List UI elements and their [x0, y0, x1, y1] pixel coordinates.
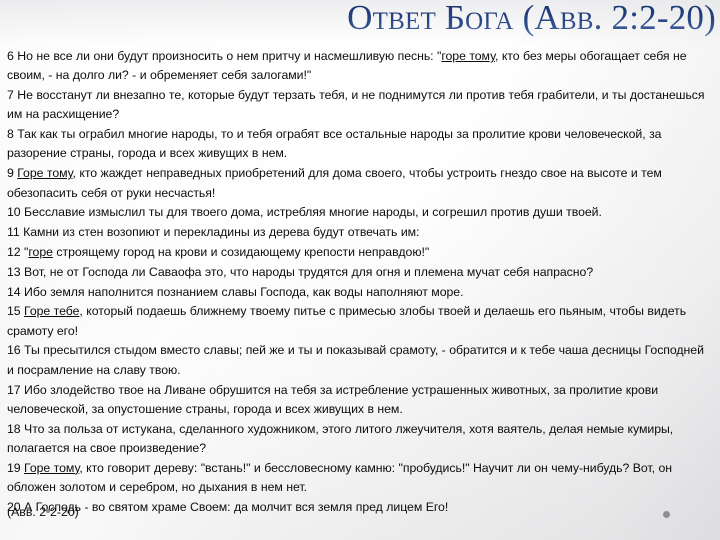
verse-text: 13 Вот, не от Господа ли Саваофа это, чт…	[7, 265, 593, 279]
verse-paragraph: 9 Горе тому, кто жаждет неправедных прио…	[7, 164, 713, 203]
verse-paragraph: 13 Вот, не от Господа ли Саваофа это, чт…	[7, 263, 713, 282]
verse-paragraph: 8 Так как ты ограбил многие народы, то и…	[7, 125, 713, 164]
verse-paragraph: 16 Ты пресытился стыдом вместо славы; пе…	[7, 341, 713, 380]
presentation-slide: Ответ Бога (Авв. 2:2-20) 6 Но не все ли …	[0, 0, 720, 540]
verse-paragraph: 10 Бесславие измыслил ты для твоего дома…	[7, 203, 713, 222]
verse-text: 12 "	[7, 245, 28, 259]
verse-text-continued: , кто жаждет неправедных приобретений дл…	[7, 166, 662, 199]
verse-text: 11 Камни из стен возопиют и перекладины …	[7, 225, 419, 239]
verse-text: 15	[7, 304, 24, 318]
woe-phrase: Горе тому	[24, 461, 79, 475]
verse-text-continued: , кто говорит дереву: "встань!" и бессло…	[7, 461, 672, 494]
woe-phrase: горе	[28, 245, 53, 259]
verse-paragraph: 11 Камни из стен возопиют и перекладины …	[7, 223, 713, 242]
verse-text: 6 Но не все ли они будут произносить о н…	[7, 49, 441, 63]
verse-text: 14 Ибо земля наполнится познанием славы …	[7, 285, 463, 299]
verse-paragraph: 7 Не восстанут ли внезапно те, которые б…	[7, 86, 713, 125]
verse-text: 7 Не восстанут ли внезапно те, которые б…	[7, 88, 705, 121]
verse-paragraph: 19 Горе тому, кто говорит дереву: "встан…	[7, 459, 713, 498]
reference-prefix: (Авв. 2	[7, 505, 46, 519]
verse-paragraph: 12 "горе строящему город на крови и сози…	[7, 243, 713, 262]
verse-text: 19	[7, 461, 24, 475]
verse-paragraph: 15 Горе тебе, который подаешь ближнему т…	[7, 302, 713, 341]
woe-phrase: Горе тому	[17, 166, 72, 180]
verse-text: 8 Так как ты ограбил многие народы, то и…	[7, 127, 661, 160]
verse-text: 18 Что за польза от истукана, сделанного…	[7, 422, 673, 455]
verse-paragraph: 18 Что за польза от истукана, сделанного…	[7, 420, 713, 459]
verse-paragraph: 14 Ибо земля наполнится познанием славы …	[7, 283, 713, 302]
decorative-bullet-icon	[663, 511, 670, 518]
page-title: Ответ Бога (Авв. 2:2-20)	[347, 0, 716, 38]
verse-text: 9	[7, 166, 17, 180]
verse-paragraph: 20 А Господь - во святом храме Своем: да…	[7, 498, 713, 517]
scripture-body: 6 Но не все ли они будут произносить о н…	[7, 47, 713, 518]
verse-paragraph: 6 Но не все ли они будут произносить о н…	[7, 47, 713, 86]
woe-phrase: Горе тебе	[24, 304, 79, 318]
woe-phrase: горе тому	[441, 49, 495, 63]
verse-text: 17 Ибо злодейство твое на Ливане обрушит…	[7, 383, 658, 416]
reference-suffix: 2-20)	[50, 505, 79, 519]
verse-text-continued: строящему город на крови и созидающему к…	[53, 245, 429, 259]
verse-text-continued: , который подаешь ближнему твоему питье …	[7, 304, 686, 337]
title-area: Ответ Бога (Авв. 2:2-20)	[40, 0, 716, 38]
scripture-reference: (Авв. 22-20)	[7, 503, 79, 522]
verse-paragraph: 17 Ибо злодейство твое на Ливане обрушит…	[7, 381, 713, 420]
verse-text: 16 Ты пресытился стыдом вместо славы; пе…	[7, 343, 704, 376]
verse-text: 10 Бесславие измыслил ты для твоего дома…	[7, 205, 602, 219]
